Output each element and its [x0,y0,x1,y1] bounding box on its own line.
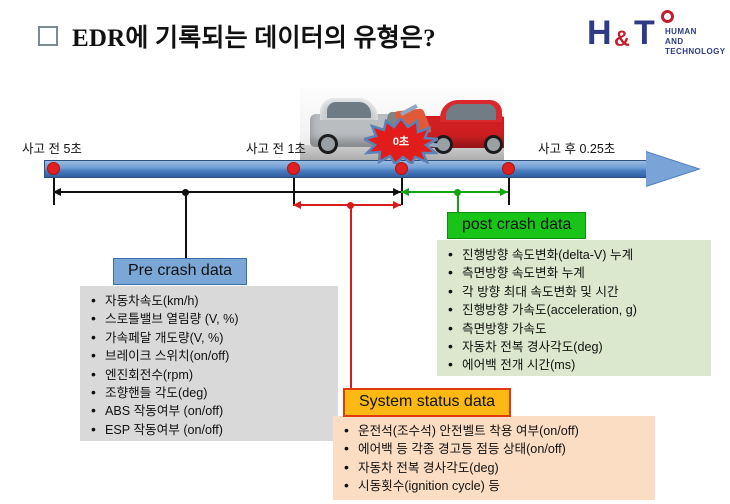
timeline-arrowhead [646,152,698,186]
timeline-marker-plus025s [502,162,515,175]
pre-crash-data-list: 자동차속도(km/h) 스로틀밸브 열림량 (V, %) 가속페달 개도량(V,… [80,286,338,445]
logo-tagline-line1: HUMAN [665,27,725,37]
starburst-icon: 0초 [364,118,438,164]
pre-crash-span-arrow-right [393,188,401,196]
timeline-bar [44,160,652,178]
system-status-data-list: 운전석(조수석) 안전벨트 착용 여부(on/off) 에어백 등 각종 경고등… [333,416,655,502]
silver-car-wheel-rear [318,134,338,154]
pre-crash-data-tag[interactable]: Pre crash data [113,258,247,285]
list-item: 자동차속도(km/h) [90,292,332,310]
list-item: 스로틀밸브 열림량 (V, %) [90,310,332,328]
logo-tagline-line3: TECHNOLOGY [665,47,725,57]
circle-icon [661,10,674,23]
tick-plus025s [508,178,510,205]
page-title-text: EDR에 기록되는 데이터의 유형은? [72,18,436,54]
pre-crash-data-panel: 자동차속도(km/h) 스로틀밸브 열림량 (V, %) 가속페달 개도량(V,… [80,286,338,441]
list-item: 진행방향 가속도(acceleration, g) [447,301,705,319]
list-item: 시동횟수(ignition cycle) 등 [343,477,649,495]
list-item: 측면방향 가속도 [447,320,705,338]
company-logo: H & T HUMAN AND TECHNOLOGY [587,10,722,62]
page-title: EDR에 기록되는 데이터의 유형은? [38,18,436,54]
list-item: 가속페달 개도량(V, %) [90,329,332,347]
timeline-marker-minus1s [287,162,300,175]
post-crash-span-arrow-right [500,188,508,196]
logo-tagline: HUMAN AND TECHNOLOGY [665,27,725,57]
silver-car-window [327,102,371,118]
system-status-span-arrow-right [393,201,401,209]
timeline-label-minus1s: 사고 전 1초 [246,138,306,157]
list-item: ESP 작동여부 (on/off) [90,421,332,439]
list-item: 자동차 전복 경사각도(deg) [447,338,705,356]
post-crash-span-arrow-left [401,188,409,196]
timeline-label-plus025s: 사고 후 0.25초 [538,138,615,157]
list-item: 엔진회전수(rpm) [90,366,332,384]
post-crash-data-tag[interactable]: post crash data [447,212,586,239]
system-status-connector-line [350,205,352,391]
list-item: 에어백 전개 시간(ms) [447,356,705,374]
post-crash-connector-line [457,192,459,214]
square-outline-icon [38,26,58,46]
list-item: 자동차 전복 경사각도(deg) [343,459,649,477]
red-car-wheel-rear [484,135,503,154]
red-car-window [446,104,496,120]
system-status-data-tag[interactable]: System status data [343,388,511,417]
post-crash-data-list: 진행방향 속도변화(delta-V) 누계 측면방향 속도변화 누계 각 방향 … [437,240,711,381]
logo-ampersand: & [614,28,630,50]
impact-time-label: 0초 [364,118,438,164]
list-item: 각 방향 최대 속도변화 및 시간 [447,283,705,301]
list-item: 에어백 등 각종 경고등 점등 상태(on/off) [343,440,649,458]
list-item: 조향핸들 각도(deg) [90,384,332,402]
system-status-data-panel: 운전석(조수석) 안전벨트 착용 여부(on/off) 에어백 등 각종 경고등… [333,416,655,500]
list-item: 운전석(조수석) 안전벨트 착용 여부(on/off) [343,422,649,440]
system-status-span-arrow-left [293,201,301,209]
pre-crash-span-line [53,191,401,193]
post-crash-data-panel: 진행방향 속도변화(delta-V) 누계 측면방향 속도변화 누계 각 방향 … [437,240,711,376]
pre-crash-connector-line [185,192,187,260]
logo-letter-t: T [634,16,655,50]
list-item: 브레이크 스위치(on/off) [90,347,332,365]
logo-letter-h: H [587,16,612,50]
timeline-label-minus5s: 사고 전 5초 [22,138,82,157]
slide-root: EDR에 기록되는 데이터의 유형은? H & T HUMAN AND TECH… [0,0,730,504]
list-item: ABS 작동여부 (on/off) [90,402,332,420]
timeline-marker-minus5s [47,162,60,175]
list-item: 진행방향 속도변화(delta-V) 누계 [447,246,705,264]
pre-crash-span-arrow-left [53,188,61,196]
list-item: 측면방향 속도변화 누계 [447,264,705,282]
logo-tagline-line2: AND [665,37,725,47]
